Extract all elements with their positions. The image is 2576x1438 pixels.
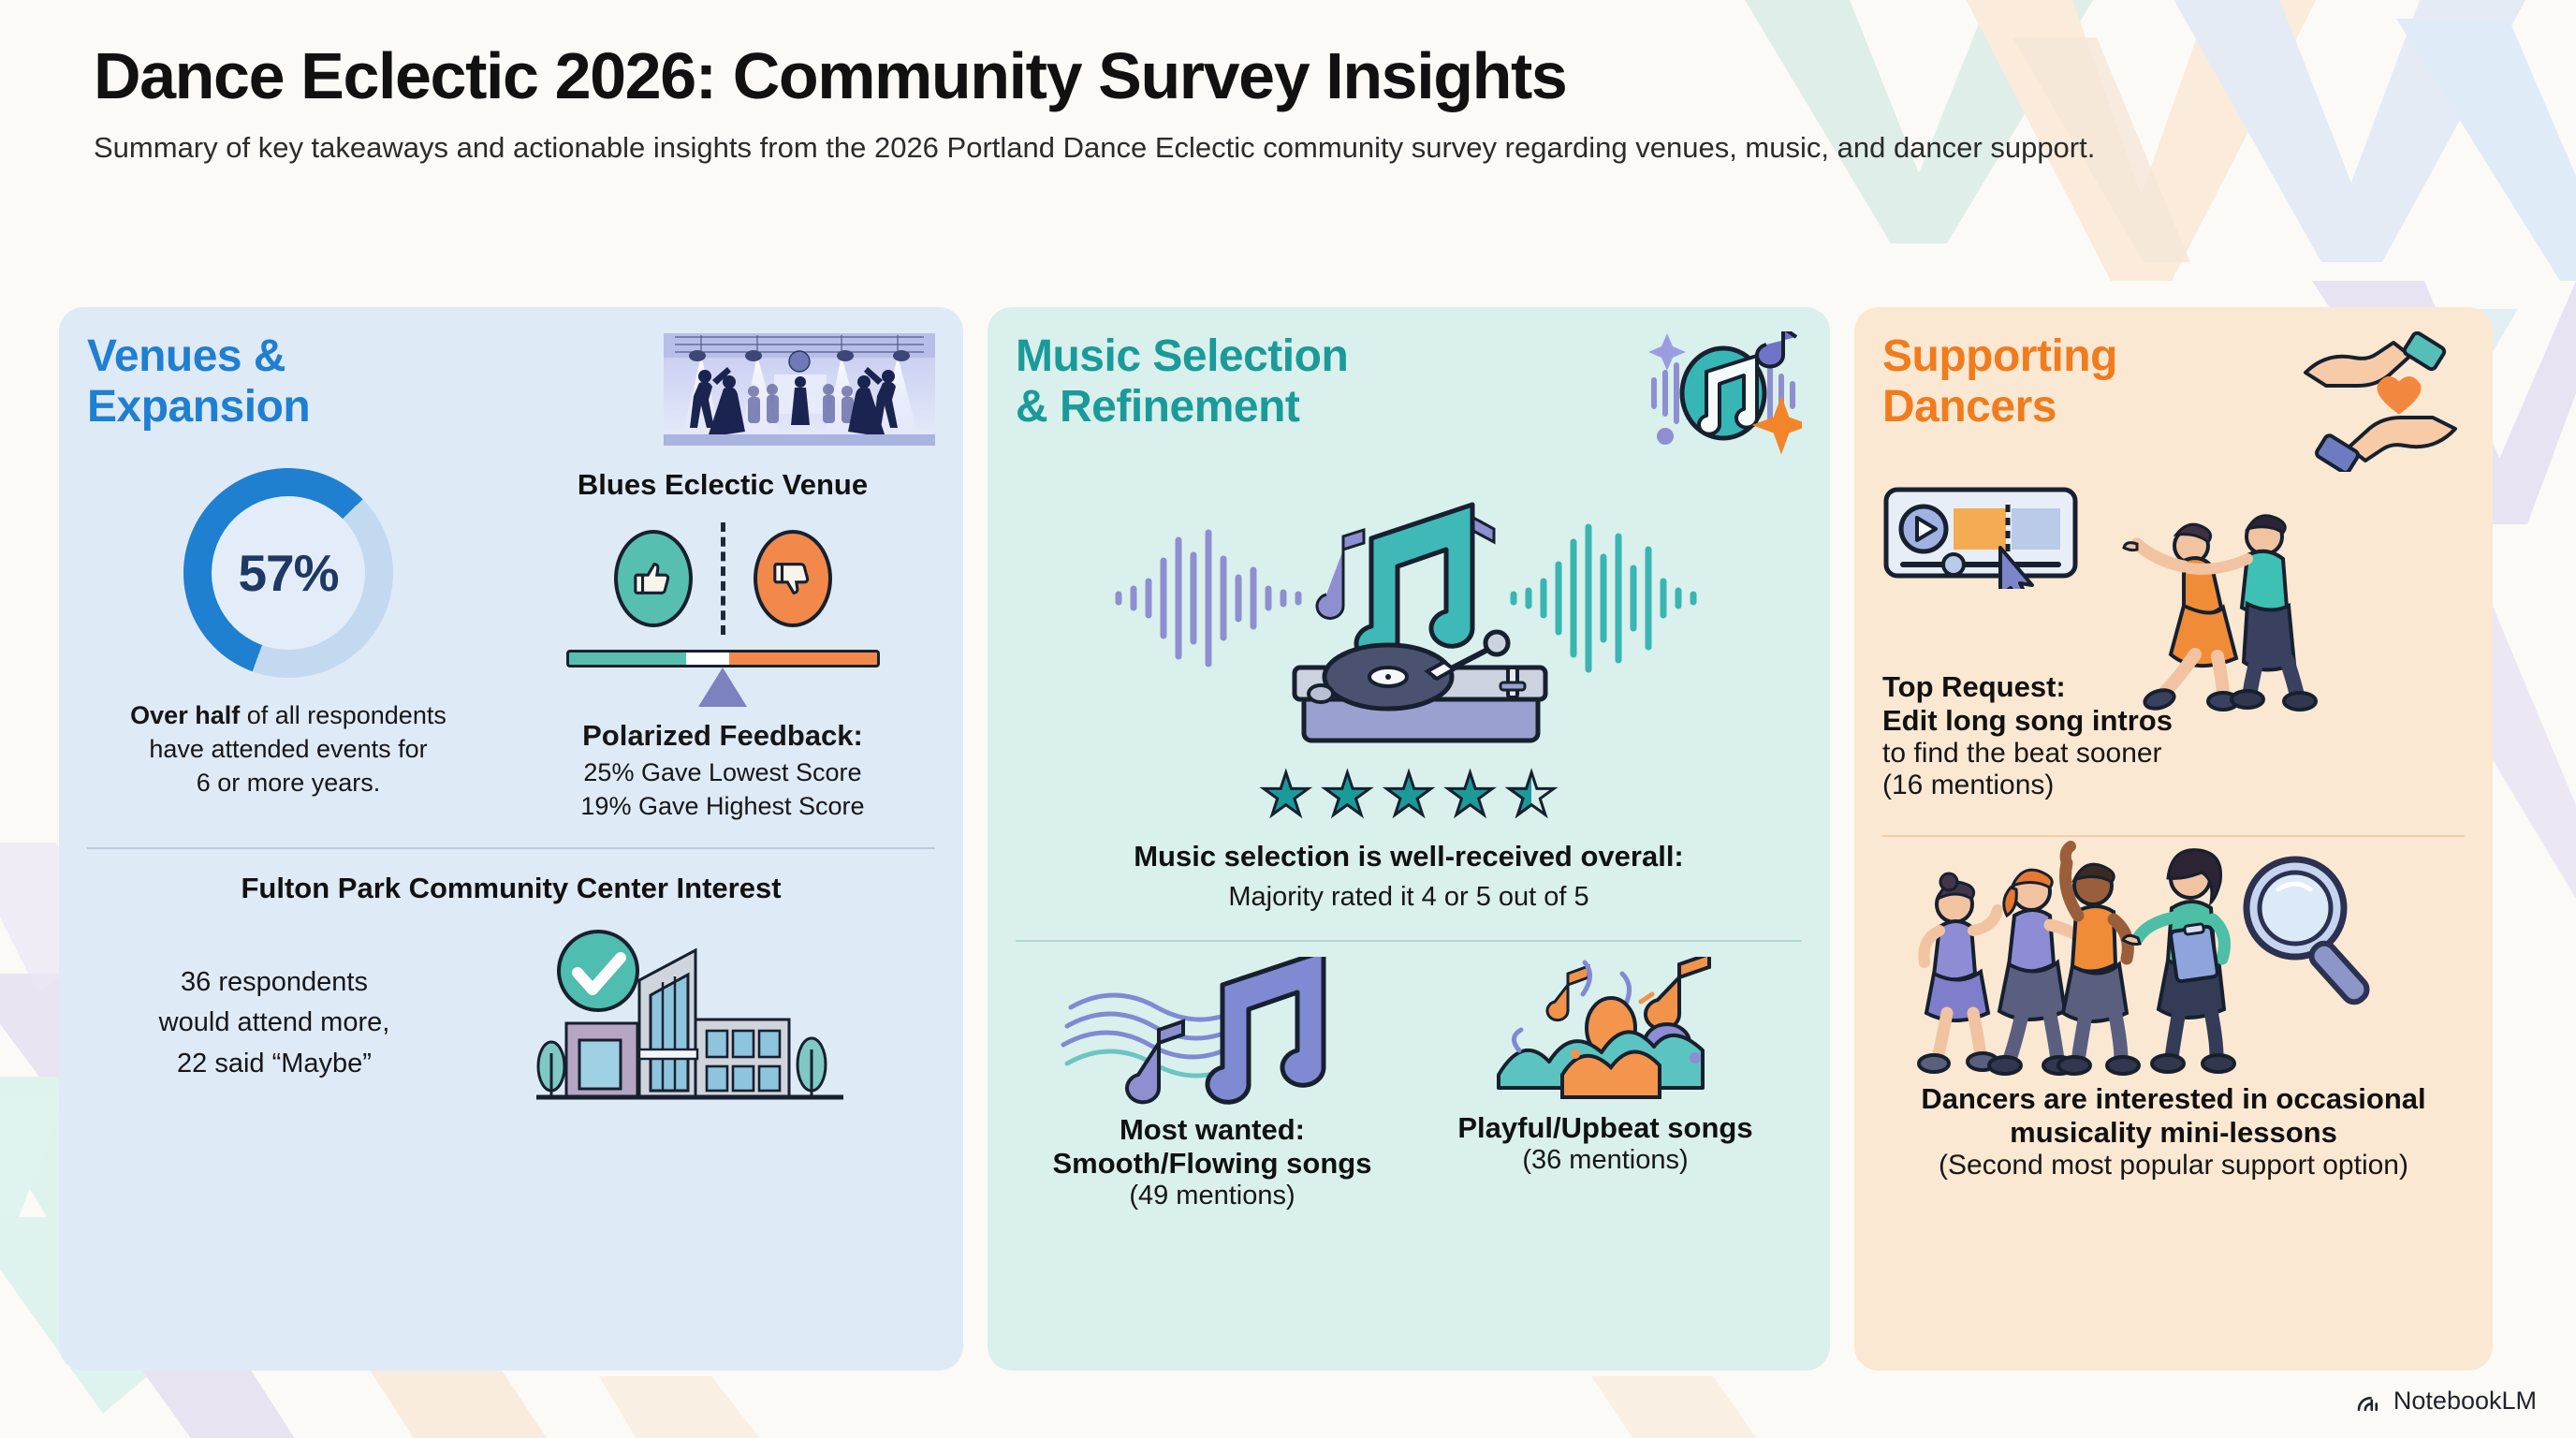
hands-holding-heart-icon [2296,331,2465,477]
page-subtitle: Summary of key takeaways and actionable … [94,127,2340,169]
support-footer-line2: musicality mini-lessons [1882,1116,2465,1150]
music-note-badge-icon [1633,331,1802,477]
venue-feedback-heading: Blues Eclectic Venue [578,468,868,502]
support-footer-line3: (Second most popular support option) [1882,1150,2465,1181]
fulton-park-caption: 36 respondents would attend more, 22 sai… [87,962,461,1085]
venue-feedback-block: Blues Eclectic Venue [510,468,935,823]
card-venues-title: Venues & Expansion [87,331,310,433]
top-request-line3: (16 mentions) [1882,770,2465,801]
feedback-balance [566,650,880,707]
card-music-title: Music Selection & Refinement [1016,331,1348,433]
community-center-building-illustration [461,930,935,1117]
fulton-park-heading: Fulton Park Community Center Interest [87,872,935,905]
preference-playful-line2: (36 mentions) [1457,1145,1752,1176]
card-support-title: Supporting Dancers [1882,331,2117,433]
ballroom-dancers-illustration [664,333,935,446]
infographic-root: Dance Eclectic 2026: Community Survey In… [0,0,2576,1438]
support-divider [1882,835,2465,837]
flowing-music-staff-icon [1058,957,1367,1111]
polarized-feedback-line2: 19% Gave Highest Score [580,789,864,823]
attendance-caption-line3: 6 or more years. [197,769,381,797]
card-support-header: Supporting Dancers [1882,331,2465,477]
preference-smooth-flowing: Most wanted: Smooth/Flowing songs (49 me… [1016,957,1409,1211]
venues-stats-row: 57% Over half of all respondents have at… [87,468,935,823]
thumbs-row [614,522,832,635]
card-venues-title-line2: Expansion [87,382,310,433]
top-request-line2: to find the beat sooner [1882,738,2465,770]
card-supporting-dancers: Supporting Dancers [1854,307,2493,1371]
fulton-park-line2: would attend more, [87,1003,461,1044]
card-venues-expansion: Venues & Expansion [59,307,963,1371]
attendance-donut-block: 57% Over half of all respondents have at… [87,468,490,800]
card-music-header: Music Selection & Refinement [1016,331,1802,477]
dance-class-group-illustration [1882,841,2465,1086]
balance-fulcrum-icon [698,668,747,707]
card-music-selection: Music Selection & Refinement [988,307,1830,1371]
support-footer-text: Dancers are interested in occasional mus… [1882,1082,2465,1181]
polarized-feedback-line1: 25% Gave Lowest Score [580,756,864,789]
magnifying-glass-icon [2247,859,2371,1006]
feedback-divider [721,522,725,635]
preference-playful-text: Playful/Upbeat songs (36 mentions) [1457,1111,1752,1176]
page-title: Dance Eclectic 2026: Community Survey In… [94,41,2340,110]
preference-playful-upbeat: Playful/Upbeat songs (36 mentions) [1409,957,1802,1211]
video-trim-player-icon [1882,486,2098,594]
upbeat-music-burst-icon [1465,957,1746,1111]
header: Dance Eclectic 2026: Community Survey In… [94,41,2340,169]
music-star-rating: ★ ★ ★ ★ ★ [1016,767,1802,825]
card-venues-title-line1: Venues & [87,331,310,382]
star-icon-3: ★ [1383,767,1435,825]
polarized-feedback-title: Polarized Feedback: [580,716,864,756]
attendance-caption-rest: of all respondents [240,701,446,729]
star-icon-1: ★ [1260,767,1312,825]
cards-row: Venues & Expansion [59,307,2511,1371]
star-icon-4: ★ [1444,767,1497,825]
card-venues-header: Venues & Expansion [87,331,935,446]
donut-value-label: 57% [183,468,393,678]
preference-smooth-line1: Most wanted: [1053,1113,1372,1147]
attendance-caption-line2: have attended events for [149,735,427,763]
card-support-title-line1: Supporting [1882,331,2117,382]
preference-smooth-line2: Smooth/Flowing songs [1053,1147,1372,1181]
attendance-caption-bold: Over half [130,701,240,729]
venues-divider [87,847,935,849]
star-icon-5-half: ★ [1505,767,1558,825]
star-icon-2: ★ [1322,767,1374,825]
dancing-couple-illustration [2090,486,2334,725]
fulton-park-line3: 22 said “Maybe” [87,1044,461,1085]
music-rating-subline: Majority rated it 4 or 5 out of 5 [1016,879,1802,916]
attendance-donut-chart: 57% [183,468,393,678]
preference-playful-line1: Playful/Upbeat songs [1457,1111,1752,1145]
notebooklm-watermark-label: NotebookLM [2393,1387,2537,1416]
preference-smooth-text: Most wanted: Smooth/Flowing songs (49 me… [1053,1113,1372,1211]
notebooklm-logo-icon [2354,1387,2382,1416]
music-rating-headline: Music selection is well-received overall… [1016,840,1802,873]
card-support-title-line2: Dancers [1882,382,2117,433]
card-music-title-line1: Music Selection [1016,331,1348,382]
thumbs-up-icon [614,530,693,627]
attendance-caption: Over half of all respondents have attend… [130,698,446,800]
thumbs-down-icon [754,530,832,627]
notebooklm-watermark: NotebookLM [2354,1387,2537,1416]
fulton-park-block: Fulton Park Community Center Interest 36… [87,872,935,1117]
turntable-waveform-illustration [1016,484,1802,765]
polarized-feedback-text: Polarized Feedback: 25% Gave Lowest Scor… [580,716,864,823]
fulton-park-content: 36 respondents would attend more, 22 sai… [87,930,935,1117]
fulton-park-line1: 36 respondents [87,962,461,1004]
balance-bar [566,650,880,668]
music-divider [1016,940,1802,942]
preference-smooth-line3: (49 mentions) [1053,1181,1372,1211]
card-music-title-line2: & Refinement [1016,382,1348,433]
music-preferences-row: Most wanted: Smooth/Flowing songs (49 me… [1016,957,1802,1211]
support-footer-line1: Dancers are interested in occasional [1882,1082,2465,1116]
